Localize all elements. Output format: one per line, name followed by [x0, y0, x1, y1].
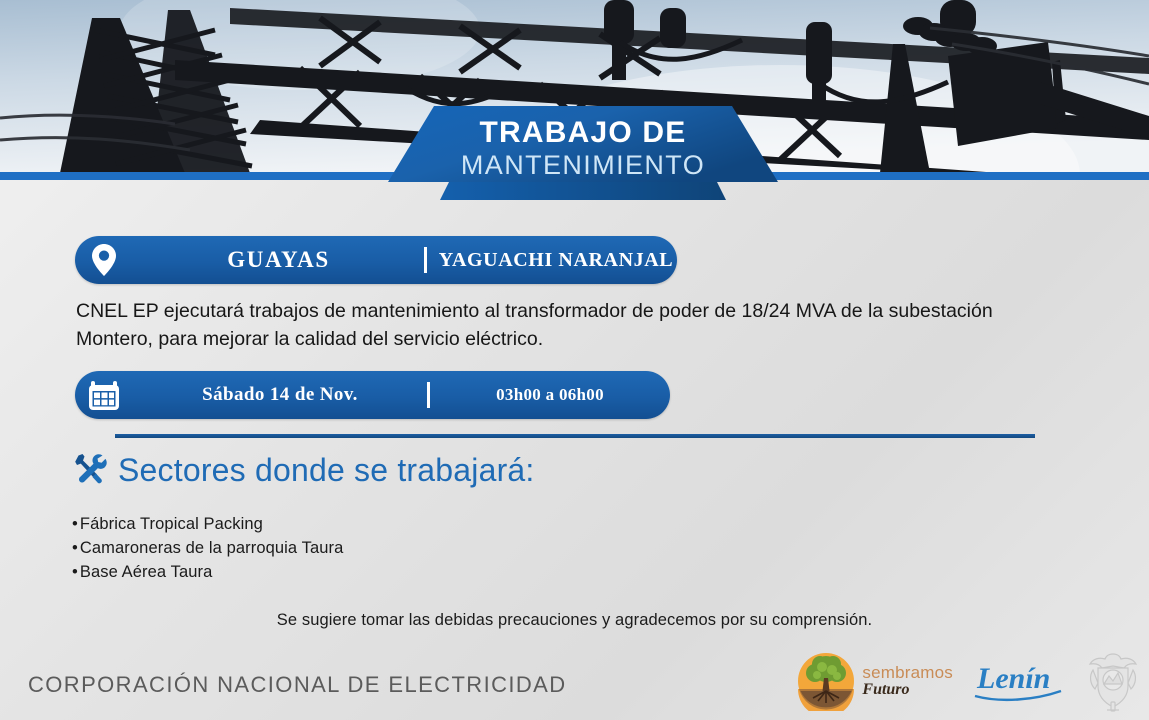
schedule-banner[interactable]: Sábado 14 de Nov. 03h00 a 06h00	[75, 371, 670, 419]
lenin-label: Lenín	[976, 662, 1050, 695]
list-item: • Base Aérea Taura	[72, 560, 672, 584]
advisory-note: Se sugiere tomar las debidas precaucione…	[0, 611, 1149, 630]
title-line-2: MANTENIMIENTO	[461, 150, 705, 181]
sembramos-label: sembramos	[862, 664, 953, 681]
time-label: 03h00 a 06h00	[430, 385, 670, 405]
sectors-list: • Fábrica Tropical Packing • Camaroneras…	[72, 512, 672, 584]
bullet-marker: •	[72, 536, 78, 560]
title-line-1: TRABAJO DE	[479, 116, 686, 150]
province-label: GUAYAS	[133, 247, 424, 273]
sectors-heading-label: Sectores donde se trabajará:	[118, 452, 535, 489]
list-item-label: Base Aérea Taura	[80, 560, 212, 584]
bullet-marker: •	[72, 512, 78, 536]
list-item-label: Camaroneras de la parroquia Taura	[80, 536, 343, 560]
bullet-marker: •	[72, 560, 78, 584]
ecuador-coat-of-arms	[1085, 650, 1141, 712]
map-pin-icon	[75, 243, 133, 277]
corporation-name: CORPORACIÓN NACIONAL DE ELECTRICIDAD	[28, 672, 567, 698]
location-banner[interactable]: GUAYAS YAGUACHI NARANJAL	[75, 236, 677, 284]
description-text: CNEL EP ejecutará trabajos de mantenimie…	[76, 297, 1016, 353]
list-item-label: Fábrica Tropical Packing	[80, 512, 263, 536]
calendar-icon	[75, 378, 133, 412]
sembramos-futuro-logo: sembramos Futuro	[796, 651, 953, 711]
lenin-logo: Lenín	[971, 658, 1067, 704]
zone-label: YAGUACHI NARANJAL	[427, 249, 677, 272]
date-label: Sábado 14 de Nov.	[133, 384, 427, 406]
list-item: • Camaroneras de la parroquia Taura	[72, 536, 672, 560]
section-divider	[115, 434, 1035, 438]
title-banner: TRABAJO DE MANTENIMIENTO	[388, 104, 778, 202]
poster-root: TRABAJO DE MANTENIMIENTO GUAYAS YAGUACHI…	[0, 0, 1149, 720]
list-item: • Fábrica Tropical Packing	[72, 512, 672, 536]
futuro-label: Futuro	[862, 682, 953, 698]
sectors-heading: Sectores donde se trabajará:	[72, 450, 535, 491]
tree-circle-icon	[796, 651, 856, 711]
tools-icon	[72, 450, 108, 491]
footer-logos: sembramos Futuro Lenín	[796, 646, 1141, 716]
